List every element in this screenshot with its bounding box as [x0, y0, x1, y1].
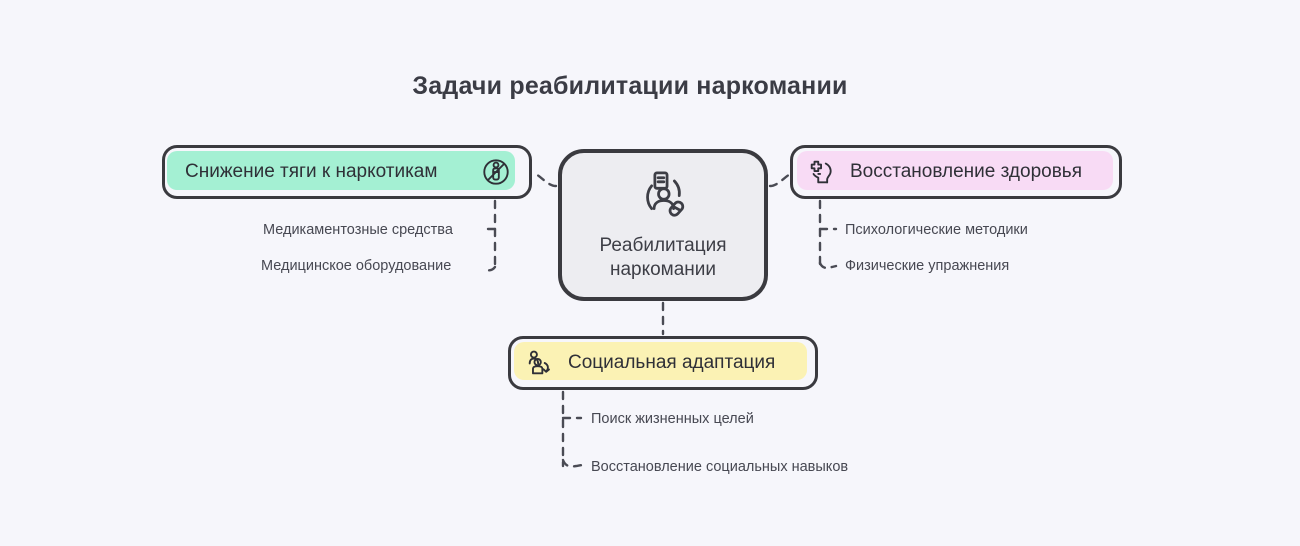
branch-label-yellow: Социальная адаптация — [568, 352, 775, 374]
central-node-label: Реабилитация наркомании — [599, 234, 726, 283]
head-medical-cross-icon — [807, 157, 837, 187]
branch-node-yellow[interactable]: Социальная адаптация — [508, 336, 818, 390]
mindmap-canvas: Задачи реабилитации наркомании — [0, 0, 1300, 546]
leaf-label-pink-2: Физические упражнения — [845, 258, 1009, 274]
branch-node-green[interactable]: Снижение тяги к наркотикам — [162, 145, 532, 199]
wire-green-leaf2 — [484, 267, 495, 270]
leaf-label-pink-1: Психологические методики — [845, 222, 1028, 238]
leaf-label-yellow-2: Восстановление социальных навыков — [591, 459, 848, 475]
person-document-pill-icon — [637, 168, 689, 220]
branch-label-green: Снижение тяги к наркотикам — [185, 161, 437, 183]
wire-yellow-leaf2 — [563, 460, 582, 466]
wire-pink-leaf2 — [820, 263, 836, 268]
wire-central-green — [534, 173, 556, 186]
branch-label-pink: Восстановление здоровья — [850, 161, 1082, 183]
no-drugs-icon — [481, 157, 511, 187]
leaf-label-green-2: Медицинское оборудование — [261, 258, 451, 274]
branch-node-pink[interactable]: Восстановление здоровья — [790, 145, 1122, 199]
page-title: Задачи реабилитации наркомании — [0, 72, 1260, 101]
central-node[interactable]: Реабилитация наркомании — [558, 149, 768, 301]
leaf-label-green-1: Медикаментозные средства — [263, 222, 453, 238]
leaf-label-yellow-1: Поиск жизненных целей — [591, 411, 754, 427]
wire-central-pink — [770, 173, 792, 186]
people-group-arrow-icon — [525, 348, 555, 378]
